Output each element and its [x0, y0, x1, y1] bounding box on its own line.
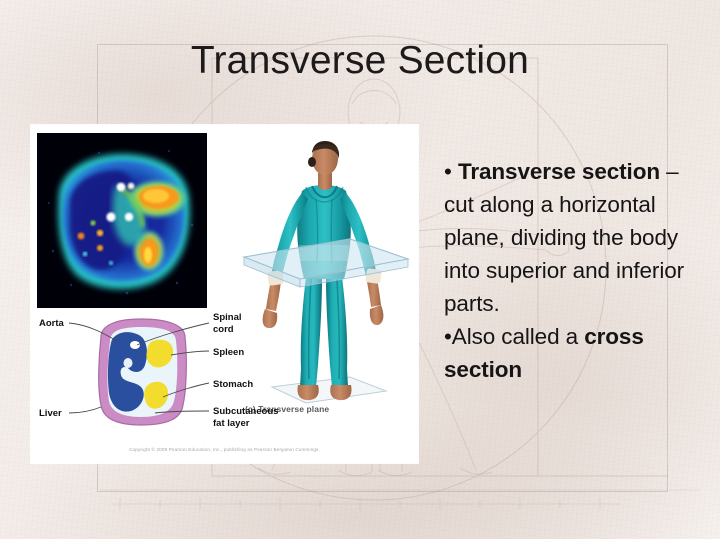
- bullet-transverse-section-definition: • Transverse section – cut along a horiz…: [444, 155, 706, 320]
- label-subcutaneous-2: fat layer: [213, 418, 250, 429]
- figure-panel: (c) Transverse plane: [31, 125, 418, 463]
- bullet-cross-section-alias: •Also called a cross section: [444, 320, 706, 386]
- slide-canvas: Transverse Section: [0, 0, 720, 539]
- label-spinal-cord-1: Spinal: [213, 312, 242, 323]
- copyright-notice: Copyright © 2009 Pearson Education, Inc.…: [31, 447, 418, 452]
- body-text-block: • Transverse section – cut along a horiz…: [444, 155, 706, 386]
- pet-scan-image: [37, 133, 207, 308]
- label-subcutaneous-1: Subcutaneous: [213, 406, 278, 417]
- bullet-marker-2: •: [444, 324, 452, 349]
- bullet-2-plain-lead: Also called a: [452, 324, 584, 349]
- label-spinal-cord-2: cord: [213, 324, 234, 335]
- label-stomach: Stomach: [213, 379, 253, 390]
- bullet-1-bold-lead: Transverse section: [458, 159, 660, 184]
- cross-section-diagram: Aorta Liver Spinal cord Spleen Stomach S…: [31, 311, 418, 439]
- bullet-marker-1: •: [444, 159, 452, 184]
- page-title: Transverse Section: [0, 38, 720, 84]
- label-liver: Liver: [39, 408, 62, 419]
- label-aorta: Aorta: [39, 318, 65, 329]
- label-spleen: Spleen: [213, 347, 244, 358]
